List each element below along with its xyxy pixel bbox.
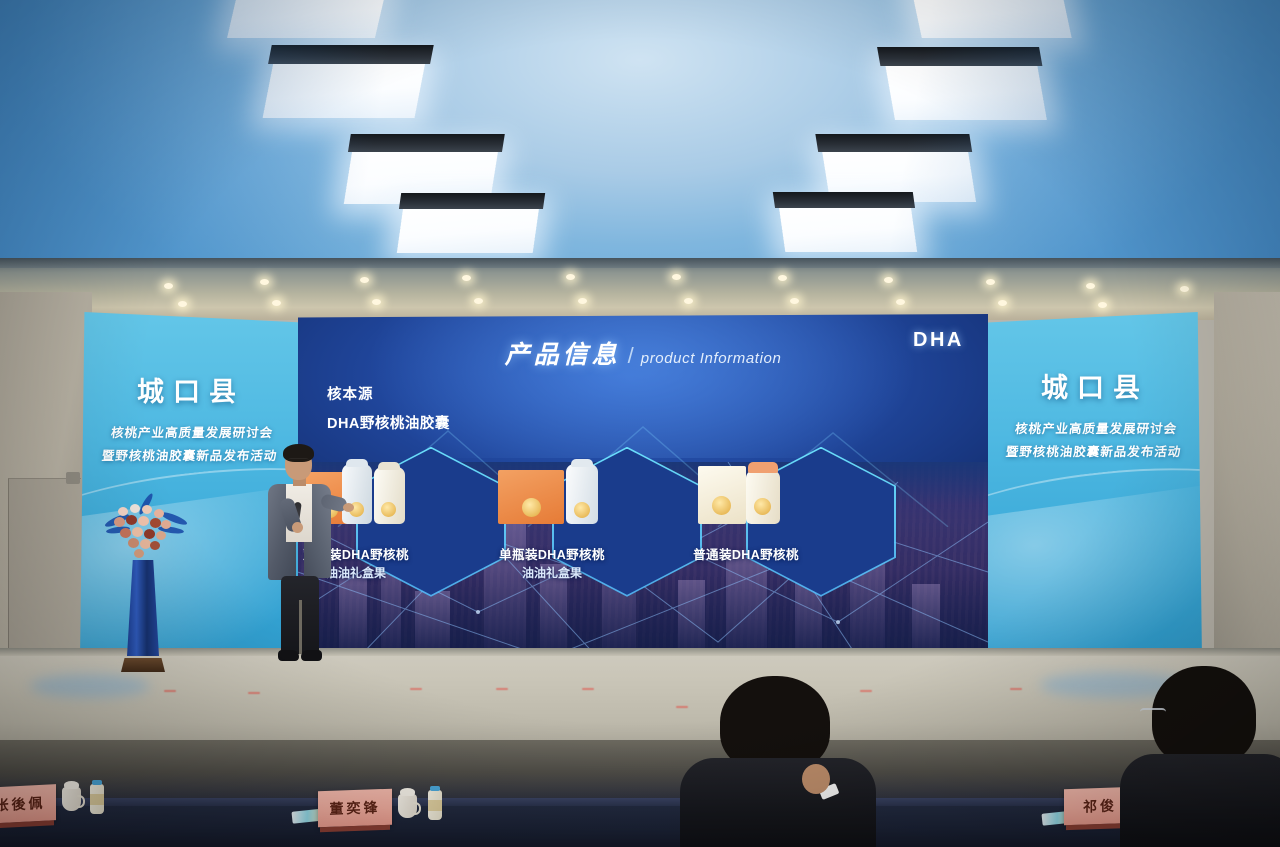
slide-title-divider: /: [628, 343, 634, 369]
dha-logo: DHA: [913, 329, 964, 352]
slide-subtitle-line1: 核本源: [327, 383, 374, 404]
name-placard-text: 董奕锋: [330, 797, 381, 819]
gift-box: [698, 466, 746, 524]
water-bottle: [428, 790, 442, 820]
water-bottle: [90, 784, 104, 814]
right-wall: [1214, 292, 1280, 692]
led-video-wall: 城口县 核桃产业高质量发展研讨会 暨野核桃油胶囊新品发布活动 城口县 核桃产业高…: [80, 312, 1202, 660]
podium-stand: [121, 560, 165, 672]
product-image-2: [496, 462, 608, 528]
product-caption-2: 单瓶装DHA野核桃 油油礼盒果: [468, 544, 636, 581]
slide-title: 产品信息 / product Information: [505, 335, 782, 371]
slide-title-cn: 产品信息: [505, 335, 621, 371]
ceiling-light-panel: [779, 206, 917, 252]
slide-title-en: product Information: [641, 350, 782, 367]
left-banner-title: 城口县: [137, 370, 245, 409]
tea-cup: [398, 794, 417, 818]
audience-member-center: [672, 676, 882, 847]
conference-stage-photo: 城口县 核桃产业高质量发展研讨会 暨野核桃油胶囊新品发布活动 城口县 核桃产业高…: [0, 0, 1280, 847]
wall-plate: [66, 472, 80, 484]
right-event-banner: 城口县 核桃产业高质量发展研讨会 暨野核桃油胶囊新品发布活动: [988, 312, 1202, 660]
glasses-icon: [288, 458, 309, 465]
ceiling-light-panel: [344, 150, 499, 204]
product-caption-3: 普通装DHA野核桃: [662, 544, 830, 564]
audience-member-right: [1128, 666, 1280, 847]
tea-cup: [62, 787, 81, 811]
name-placard: 张後佩: [0, 784, 56, 824]
ceiling-light-panel: [885, 64, 1047, 120]
presenter-person: [259, 440, 351, 670]
stage-soffit: [0, 258, 1280, 320]
ceiling-light-panel: [397, 207, 539, 253]
glasses-icon: [1140, 708, 1166, 719]
slide-subtitle-line2: DHA野核桃油胶囊: [327, 412, 450, 433]
name-placard-text: 祁俊: [1083, 795, 1117, 816]
product-card-row: 双瓶装DHA野核桃 油油礼盒果 单瓶装DHA野核桃: [298, 445, 988, 645]
ceiling: [0, 0, 1280, 292]
right-banner-subtitle: 核桃产业高质量发展研讨会 暨野核桃油胶囊新品发布活动: [1005, 418, 1185, 464]
presentation-screen: 产品信息 / product Information DHA 核本源 DHA野核…: [298, 314, 988, 658]
name-placard-text: 张後佩: [0, 793, 46, 816]
stage-floor: [0, 648, 1280, 752]
right-banner-title: 城口县: [1041, 366, 1149, 405]
ceiling-light-panel: [822, 150, 976, 202]
bottle: [746, 470, 780, 524]
left-banner-subtitle: 核桃产业高质量发展研讨会 暨野核桃油胶囊新品发布活动: [101, 422, 281, 468]
name-placard: 董奕锋: [318, 789, 392, 828]
ceiling-light-panel: [227, 0, 387, 38]
ceiling-light-panel: [263, 62, 426, 118]
product-image-3: [690, 462, 802, 528]
ceiling-light-panel: [910, 0, 1071, 38]
